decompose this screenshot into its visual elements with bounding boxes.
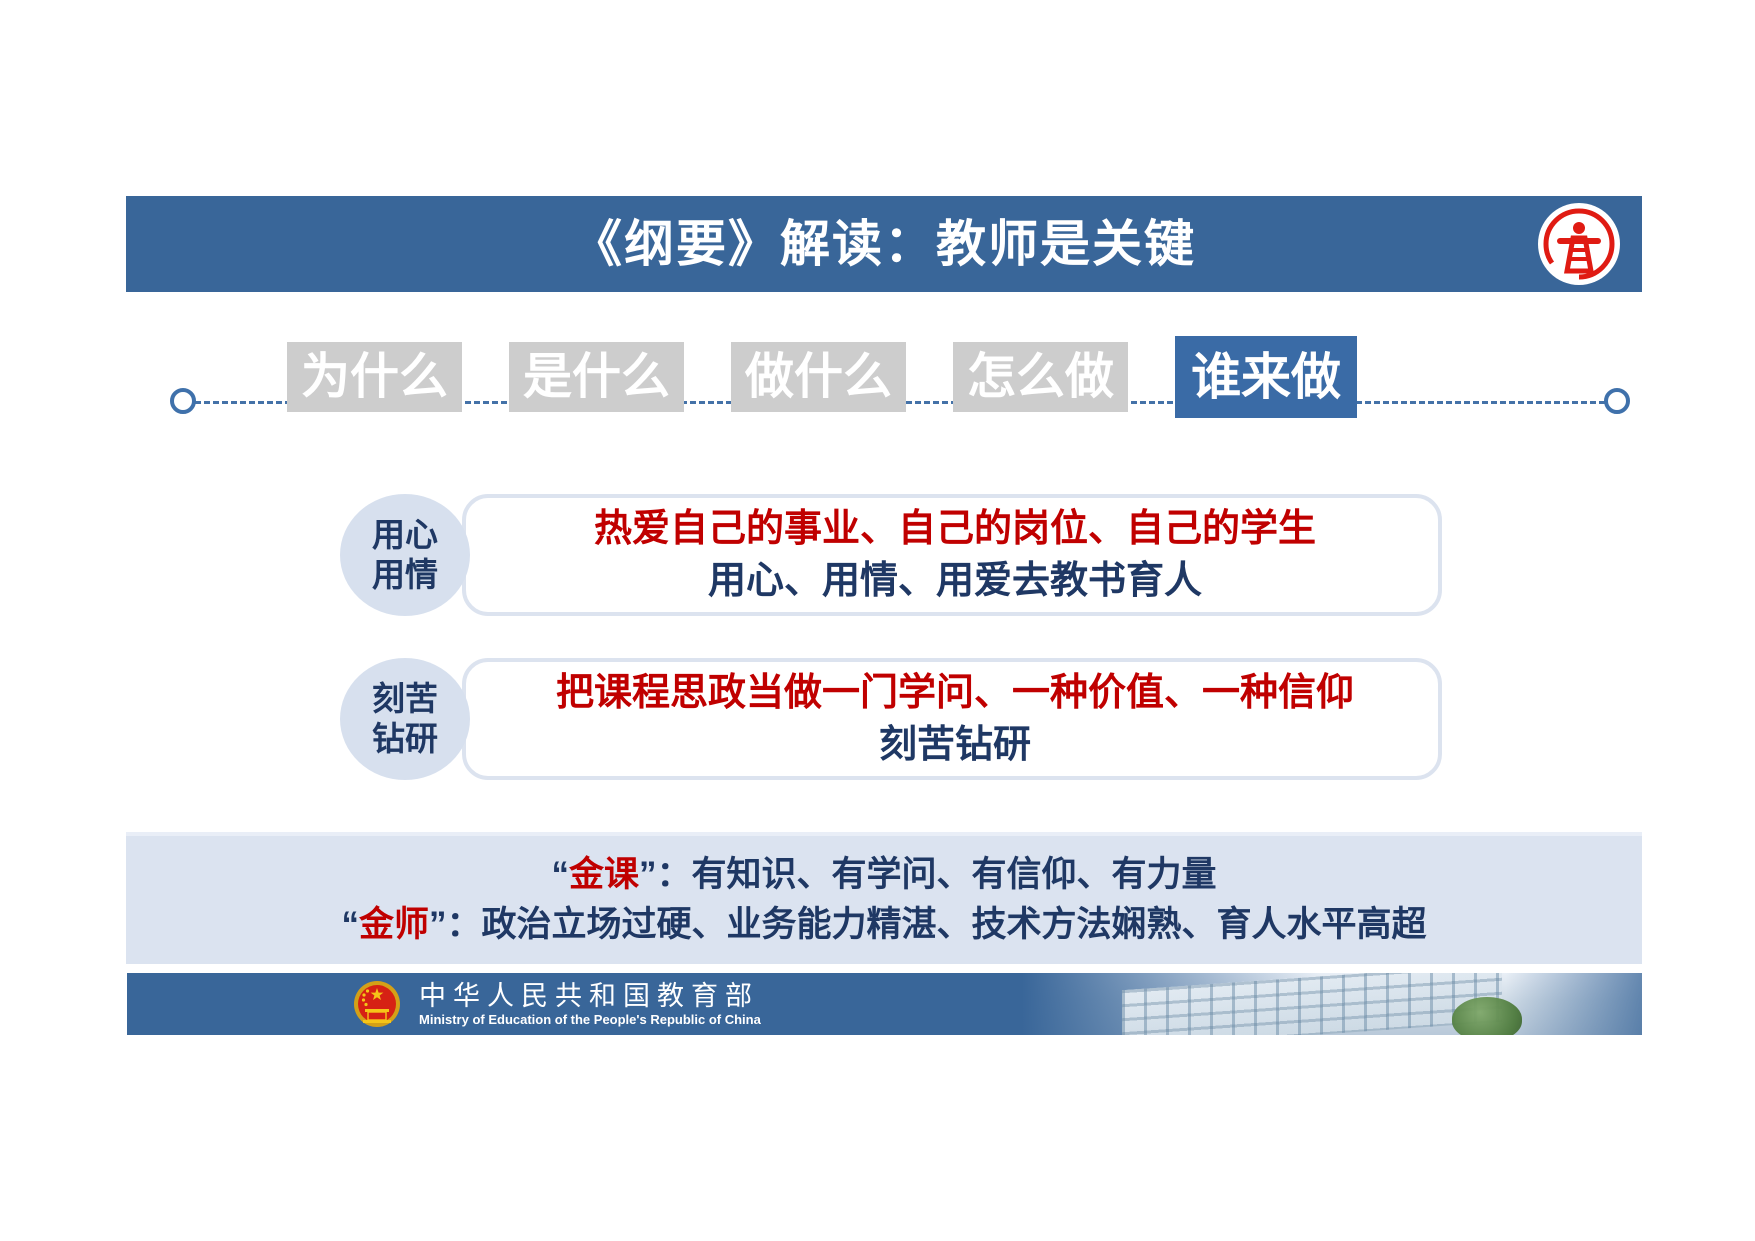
- page-title: 《纲要》解读：教师是关键: [572, 219, 1196, 269]
- card-text-block: 热爱自己的事业、自己的岗位、自己的学生 用心、用情、用爱去教书育人: [480, 494, 1430, 616]
- slide-header-bar: 《纲要》解读：教师是关键: [126, 196, 1642, 292]
- nav-tab-why[interactable]: 为什么: [287, 342, 462, 412]
- summary-highlight-jinshi: 金师: [359, 905, 429, 944]
- building-photo: [1022, 973, 1642, 1035]
- card-text-red: 热爱自己的事业、自己的岗位、自己的学生: [594, 503, 1316, 555]
- card-badge-yongxin-yongqing: 用心 用情: [340, 494, 470, 616]
- summary-rest-jinke: ”：有知识、有学问、有信仰、有力量: [639, 855, 1217, 894]
- nav-tab-do-what[interactable]: 做什么: [731, 342, 906, 412]
- circle-endpoint-icon-left: [170, 388, 196, 414]
- slide-canvas: 《纲要》解读：教师是关键 为什么 是什么 做什么 怎么做 谁来做: [0, 0, 1755, 1241]
- footer-name-cn: 中华人民共和国教育部: [419, 981, 761, 1011]
- summary-rest-jinshi: ”：政治立场过硬、业务能力精湛、技术方法娴熟、育人水平高超: [429, 905, 1427, 944]
- nav-tab-what[interactable]: 是什么: [509, 342, 684, 412]
- card-text-navy: 用心、用情、用爱去教书育人: [708, 555, 1202, 607]
- nav-tab-who[interactable]: 谁来做: [1175, 336, 1357, 418]
- national-emblem-icon: [352, 979, 402, 1029]
- card-text-navy: 刻苦钻研: [879, 719, 1031, 771]
- tower-emblem-icon: [1538, 203, 1620, 285]
- card-text-block: 把课程思政当做一门学问、一种价值、一种信仰 刻苦钻研: [480, 658, 1430, 780]
- footer-name-en: Ministry of Education of the People's Re…: [419, 1012, 761, 1028]
- card-badge-line-1: 刻苦: [372, 679, 438, 719]
- summary-line-jinshi: “金师”：政治立场过硬、业务能力精湛、技术方法娴熟、育人水平高超: [341, 900, 1426, 950]
- summary-panel: “金课”：有知识、有学问、有信仰、有力量 “金师”：政治立场过硬、业务能力精湛、…: [126, 832, 1642, 964]
- card-badge-line-1: 用心: [372, 515, 438, 555]
- circle-endpoint-icon-right: [1604, 388, 1630, 414]
- footer-bar: 中华人民共和国教育部 Ministry of Education of the …: [127, 973, 1642, 1035]
- card-badge-line-2: 用情: [372, 555, 438, 595]
- summary-quote-open: “: [551, 855, 569, 894]
- card-badge-line-2: 钻研: [372, 719, 438, 759]
- footer-text-block: 中华人民共和国教育部 Ministry of Education of the …: [419, 975, 761, 1033]
- summary-line-jinke: “金课”：有知识、有学问、有信仰、有力量: [551, 850, 1216, 900]
- tree-graphic: [1452, 997, 1522, 1035]
- card-badge-keku-zuanyan: 刻苦 钻研: [340, 658, 470, 780]
- nav-tab-how[interactable]: 怎么做: [953, 342, 1128, 412]
- section-nav-strip: 为什么 是什么 做什么 怎么做 谁来做: [170, 362, 1630, 442]
- summary-quote-open: “: [341, 905, 359, 944]
- summary-highlight-jinke: 金课: [569, 855, 639, 894]
- card-text-red: 把课程思政当做一门学问、一种价值、一种信仰: [556, 667, 1354, 719]
- building-facade-graphic: [1122, 973, 1502, 1035]
- nav-tab-list: 为什么 是什么 做什么 怎么做 谁来做: [287, 342, 1357, 418]
